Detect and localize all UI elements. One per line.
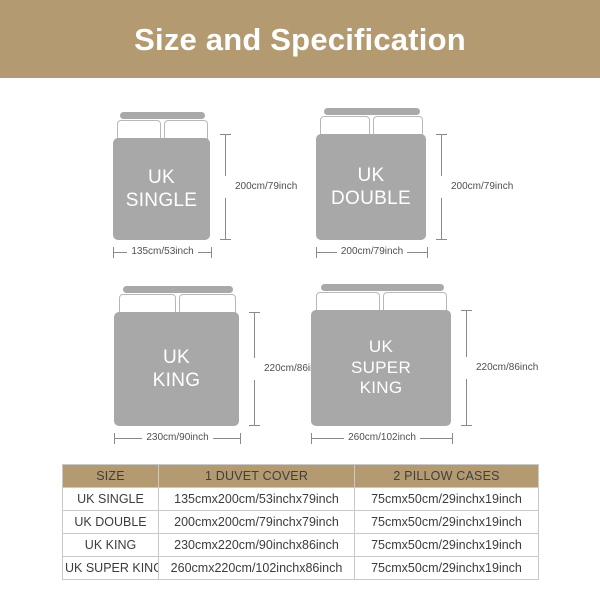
dimension-gap [441,176,442,198]
dimension-cap-bottom [249,425,260,426]
dimension-rule [312,438,344,439]
dimension-rule [407,252,427,253]
dimension-cap-bottom [220,239,231,240]
dimension-width-label: 230cm/90inch [142,433,212,443]
specification-table: SIZE 1 DUVET COVER 2 PILLOW CASES UK SIN… [62,464,539,580]
dimension-width-uk-super-king: 260cm/102inch [311,431,453,445]
dimension-rule [317,252,337,253]
cell-size: UK SUPER KING [63,557,159,580]
dimension-rule [441,198,442,239]
dimension-rule [254,313,255,358]
bed-label: UK SUPER KING [351,337,411,399]
bed-diagram-uk-king: UK KING 230cm/90inch 220cm/86inch [114,286,314,441]
table-header-pillow: 2 PILLOW CASES [355,465,539,488]
bed-headboard-rail [120,112,205,119]
dimension-cap-bottom [436,239,447,240]
dimension-width-uk-king: 230cm/90inch [114,431,241,445]
page-title: Size and Specification [134,24,466,55]
dimension-rule [254,380,255,425]
bed-duvet: UK KING [114,312,239,426]
dimension-gap [466,357,467,379]
table-row: UK DOUBLE 200cmx200cm/79inchx79inch 75cm… [63,511,539,534]
bed-headboard-rail [324,108,420,115]
dimension-height-label: 200cm/79inch [448,182,513,192]
specification-table-wrapper: SIZE 1 DUVET COVER 2 PILLOW CASES UK SIN… [62,464,538,580]
dimension-width-label: 200cm/79inch [337,247,407,257]
cell-duvet-cover: 230cmx220cm/90inchx86inch [159,534,355,557]
dimension-cap-right [427,247,428,258]
bed-graphic-uk-single: UK SINGLE [113,112,210,240]
bed-label: UK SINGLE [126,166,198,212]
dimension-vline [219,134,232,240]
cell-pillow-cases: 75cmx50cm/29inchx19inch [355,534,539,557]
header-banner: Size and Specification [0,0,600,78]
cell-pillow-cases: 75cmx50cm/29inchx19inch [355,557,539,580]
dimension-height-uk-super-king: 220cm/86inch [460,310,580,426]
dimension-gap [254,358,255,380]
bed-headboard-rail [321,284,444,291]
dimension-rule [420,438,452,439]
dimension-height-uk-double: 200cm/79inch [435,134,555,240]
bed-headboard-rail [123,286,233,293]
bed-diagram-uk-double: UK DOUBLE 200cm/79inch 200cm/79inch [316,108,516,253]
bed-duvet: UK SINGLE [113,138,210,240]
dimension-width-uk-single: 135cm/53inch [113,245,212,259]
bed-diagram-uk-super-king: UK SUPER KING 260cm/102inch 220cm/86inch [311,284,521,442]
dimension-cap-right [211,247,212,258]
bed-duvet: UK SUPER KING [311,310,451,426]
cell-pillow-cases: 75cmx50cm/29inchx19inch [355,511,539,534]
table-row: UK KING 230cmx220cm/90inchx86inch 75cmx5… [63,534,539,557]
dimension-width-label: 135cm/53inch [127,247,197,257]
bed-diagrams-area: UK SINGLE 135cm/53inch 200cm/79inch [0,78,600,458]
bed-label: UK KING [153,346,201,392]
bed-duvet: UK DOUBLE [316,134,426,240]
bed-graphic-uk-double: UK DOUBLE [316,108,426,240]
table-row: UK SINGLE 135cmx200cm/53inchx79inch 75cm… [63,488,539,511]
dimension-rule [114,252,127,253]
cell-duvet-cover: 260cmx220cm/102inchx86inch [159,557,355,580]
cell-duvet-cover: 135cmx200cm/53inchx79inch [159,488,355,511]
dimension-rule [466,379,467,425]
dimension-cap-bottom [461,425,472,426]
dimension-rule [441,135,442,176]
dimension-cap-right [452,433,453,444]
cell-size: UK KING [63,534,159,557]
dimension-rule [225,198,226,239]
table-header-row: SIZE 1 DUVET COVER 2 PILLOW CASES [63,465,539,488]
cell-pillow-cases: 75cmx50cm/29inchx19inch [355,488,539,511]
table-row: UK SUPER KING 260cmx220cm/102inchx86inch… [63,557,539,580]
dimension-rule [225,135,226,176]
dimension-cap-right [240,433,241,444]
bed-label: UK DOUBLE [331,164,411,210]
cell-size: UK SINGLE [63,488,159,511]
bed-graphic-uk-super-king: UK SUPER KING [311,284,451,426]
dimension-gap [225,176,226,198]
dimension-width-label: 260cm/102inch [344,433,420,443]
cell-size: UK DOUBLE [63,511,159,534]
dimension-vline [248,312,261,426]
dimension-height-label: 220cm/86inch [473,363,538,373]
cell-duvet-cover: 200cmx200cm/79inchx79inch [159,511,355,534]
table-header-duvet: 1 DUVET COVER [159,465,355,488]
dimension-vline [435,134,448,240]
dimension-width-uk-double: 200cm/79inch [316,245,428,259]
table-header-size: SIZE [63,465,159,488]
dimension-rule [115,438,142,439]
bed-graphic-uk-king: UK KING [114,286,239,426]
dimension-rule [466,311,467,357]
dimension-vline [460,310,473,426]
dimension-rule [213,438,240,439]
bed-diagram-uk-single: UK SINGLE 135cm/53inch 200cm/79inch [113,112,293,252]
dimension-rule [198,252,211,253]
dimension-height-label: 200cm/79inch [232,182,297,192]
